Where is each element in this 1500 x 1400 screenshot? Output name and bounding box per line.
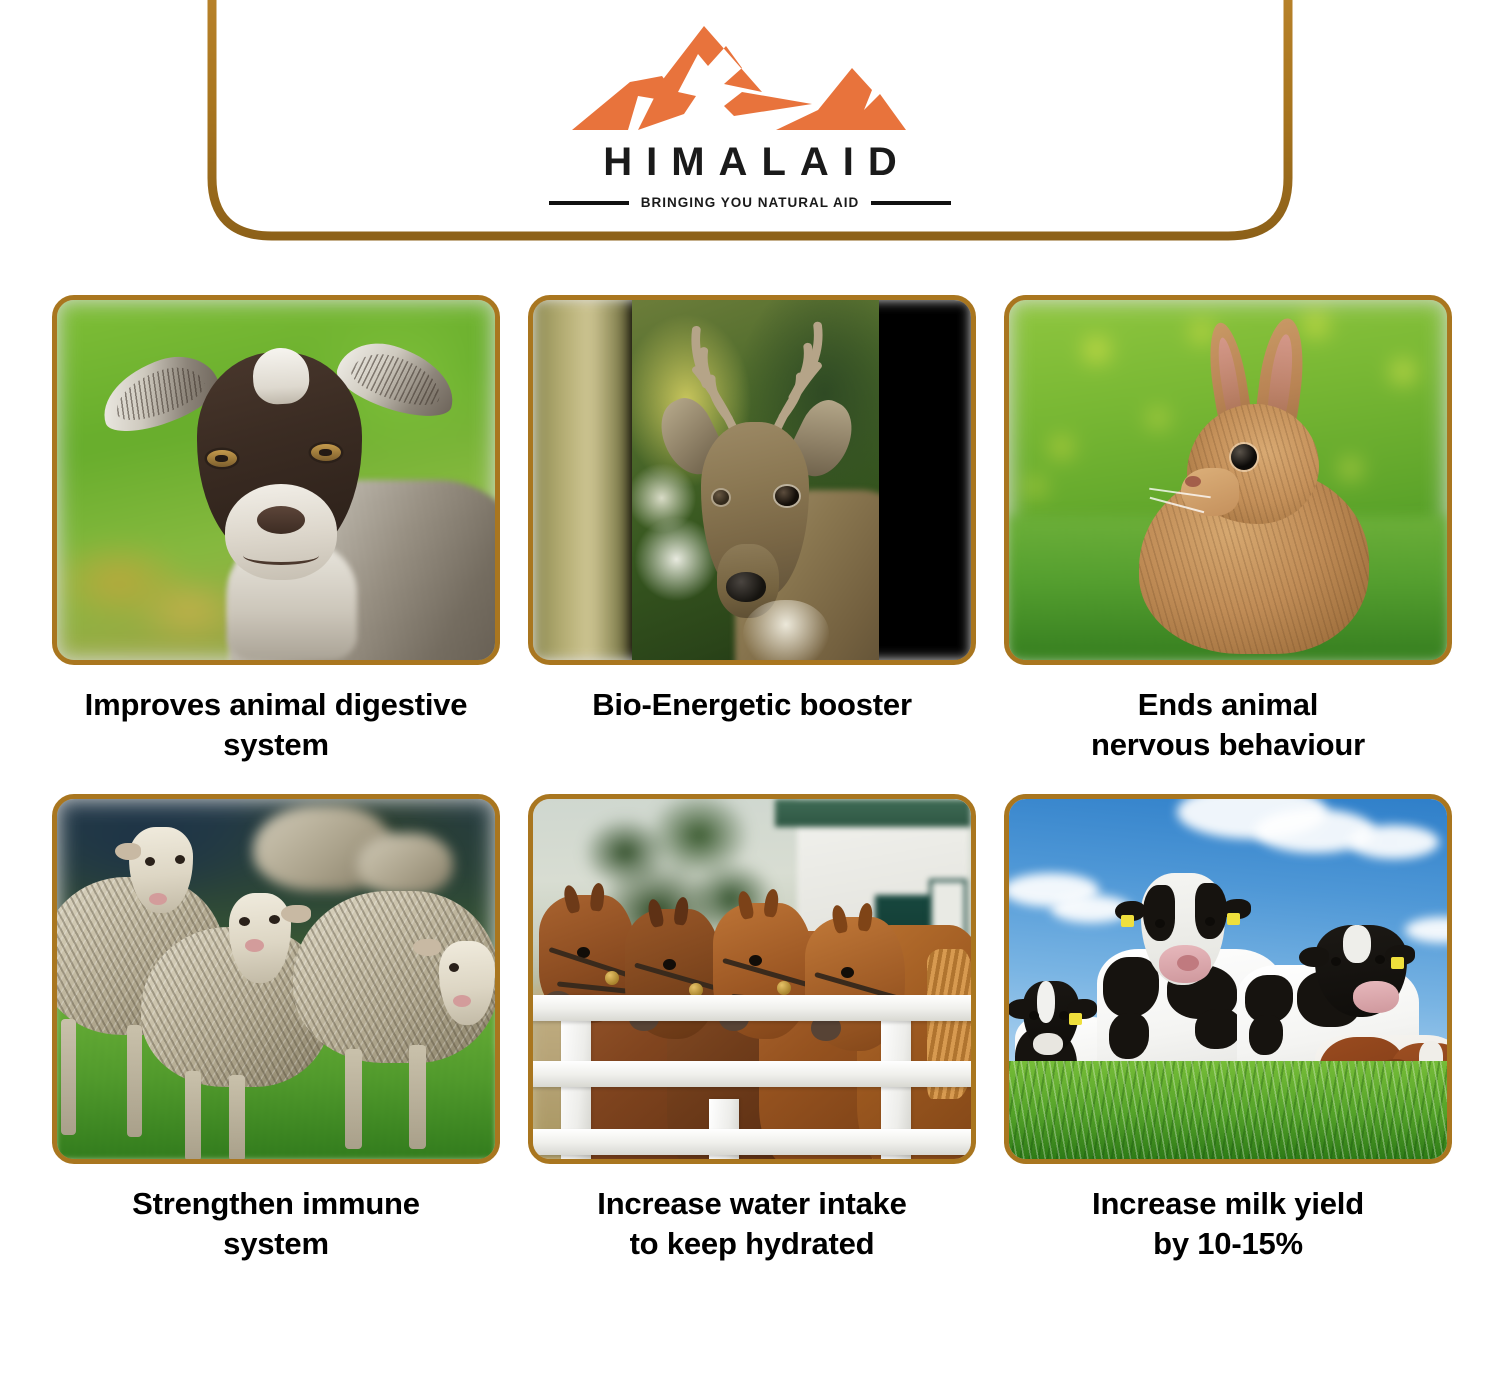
- sheep-leg: [185, 1071, 201, 1159]
- sheep-middle-eye: [239, 917, 250, 926]
- benefit-card-water-intake: Increase water intake to keep hydrated: [528, 794, 976, 1265]
- caption-line: Improves animal digestive: [52, 685, 500, 725]
- benefit-card-nervous-behaviour: Ends animal nervous behaviour: [1004, 295, 1452, 766]
- benefit-caption-digestive: Improves animal digestive system: [52, 685, 500, 766]
- deer-throat-patch: [743, 600, 829, 660]
- goat-nose: [257, 506, 305, 534]
- sheep-leg: [409, 1045, 426, 1149]
- sheep-left-eye: [145, 857, 155, 866]
- horse-3-eye: [749, 955, 762, 966]
- cow-right-eye: [1331, 957, 1341, 966]
- benefit-caption-water-intake: Increase water intake to keep hydrated: [528, 1184, 976, 1265]
- brand-name: HIMALAID: [0, 142, 1500, 182]
- sheep-middle-eye: [269, 915, 280, 924]
- rabbit-nose: [1185, 476, 1201, 487]
- sheep-right-eye: [449, 963, 459, 972]
- rabbit-eye: [1231, 444, 1257, 470]
- sheep-leg: [345, 1049, 362, 1149]
- benefit-card-bio-energetic: Bio-Energetic booster: [528, 295, 976, 766]
- brand-tagline: BRINGING YOU NATURAL AID: [641, 195, 860, 210]
- caption-line: Strengthen immune: [52, 1184, 500, 1224]
- sheep-right-nose: [453, 995, 471, 1007]
- caption-line: Ends animal: [1004, 685, 1452, 725]
- benefits-grid: Improves animal digestive system: [52, 295, 1452, 1264]
- caption-line: to keep hydrated: [528, 1224, 976, 1264]
- deer-buck-photo: [528, 295, 976, 665]
- cow-right-snout: [1353, 981, 1399, 1013]
- horse-3-halter-ring: [777, 981, 791, 995]
- cow-center-ear-tag: [1121, 915, 1134, 927]
- fence-rail-middle: [533, 1061, 971, 1087]
- horses-photo: [528, 794, 976, 1164]
- tagline-rule-right: [871, 201, 951, 205]
- fence-rail-top: [533, 995, 971, 1021]
- goat-eye-right: [311, 444, 341, 461]
- caption-line: nervous behaviour: [1004, 725, 1452, 765]
- caption-line: Increase milk yield: [1004, 1184, 1452, 1224]
- cow-center-patch: [1195, 1009, 1241, 1049]
- caption-line: Increase water intake: [528, 1184, 976, 1224]
- caption-line: Bio-Energetic booster: [528, 685, 976, 725]
- barn-roof: [775, 799, 971, 827]
- sheep-leg: [229, 1075, 245, 1159]
- deer-nose: [726, 572, 766, 602]
- caption-line: system: [52, 725, 500, 765]
- sheep-background-2: [357, 833, 453, 895]
- cloud: [1349, 825, 1439, 859]
- cow-pasture-grass: [1009, 1061, 1447, 1158]
- sheep-right-ear: [413, 939, 441, 956]
- cow-center-eye: [1155, 919, 1165, 928]
- rabbit-photo: [1004, 295, 1452, 665]
- caption-line: by 10-15%: [1004, 1224, 1452, 1264]
- sheep-left-ear: [115, 843, 141, 860]
- cow-bg-eye: [1029, 1011, 1039, 1020]
- deer-eye-right: [775, 486, 799, 506]
- brand-tagline-row: BRINGING YOU NATURAL AID: [0, 195, 1500, 210]
- caption-line: system: [52, 1224, 500, 1264]
- cow-bg-ear-tag: [1069, 1013, 1082, 1025]
- benefit-card-digestive: Improves animal digestive system: [52, 295, 500, 766]
- cow-right-ear: [1299, 947, 1329, 967]
- cow-bg-blaze: [1037, 981, 1055, 1023]
- benefit-caption-bio-energetic: Bio-Energetic booster: [528, 685, 976, 725]
- goat-mouth: [243, 546, 319, 565]
- tagline-rule-left: [549, 201, 629, 205]
- baby-goat-photo: [52, 295, 500, 665]
- cow-right-eye: [1375, 955, 1385, 964]
- goat-eye-left: [207, 450, 237, 467]
- cow-center-patch: [1109, 1013, 1149, 1059]
- cow-bg-eye: [1059, 1011, 1069, 1020]
- horse-4-eye: [841, 967, 854, 978]
- horse-1-halter-ring: [605, 971, 619, 985]
- sheep-leg: [61, 1019, 76, 1135]
- benefit-card-immune: Strengthen immune system: [52, 794, 500, 1265]
- benefit-caption-nervous-behaviour: Ends animal nervous behaviour: [1004, 685, 1452, 766]
- cow-center-patch: [1103, 957, 1159, 1017]
- cow-bg-snout: [1033, 1033, 1063, 1055]
- cow-right-ear-tag: [1391, 957, 1404, 969]
- horse-2-eye: [663, 959, 676, 970]
- sheep-left-eye: [175, 855, 185, 864]
- fence-rail-bottom: [533, 1129, 971, 1155]
- brand-logo: HIMALAID BRINGING YOU NATURAL AID: [0, 22, 1500, 210]
- sheep-left-nose: [149, 893, 167, 905]
- sheep-flock-photo: [52, 794, 500, 1164]
- mountain-range-icon: [566, 22, 934, 134]
- benefit-caption-immune: Strengthen immune system: [52, 1184, 500, 1265]
- cow-center-ear-tag: [1227, 913, 1240, 925]
- cow-right-blaze: [1343, 925, 1371, 963]
- benefit-caption-milk-yield: Increase milk yield by 10-15%: [1004, 1184, 1452, 1265]
- deer-scene: [632, 300, 879, 660]
- sheep-leg: [127, 1025, 142, 1137]
- cow-right-patch: [1249, 1015, 1283, 1055]
- benefit-card-milk-yield: Increase milk yield by 10-15%: [1004, 794, 1452, 1265]
- cow-center-eye: [1205, 917, 1215, 926]
- cow-center-head-patch: [1143, 885, 1175, 941]
- dairy-cows-photo: [1004, 794, 1452, 1164]
- sheep-middle-nose: [245, 939, 264, 952]
- cow-center-tongue: [1177, 955, 1199, 971]
